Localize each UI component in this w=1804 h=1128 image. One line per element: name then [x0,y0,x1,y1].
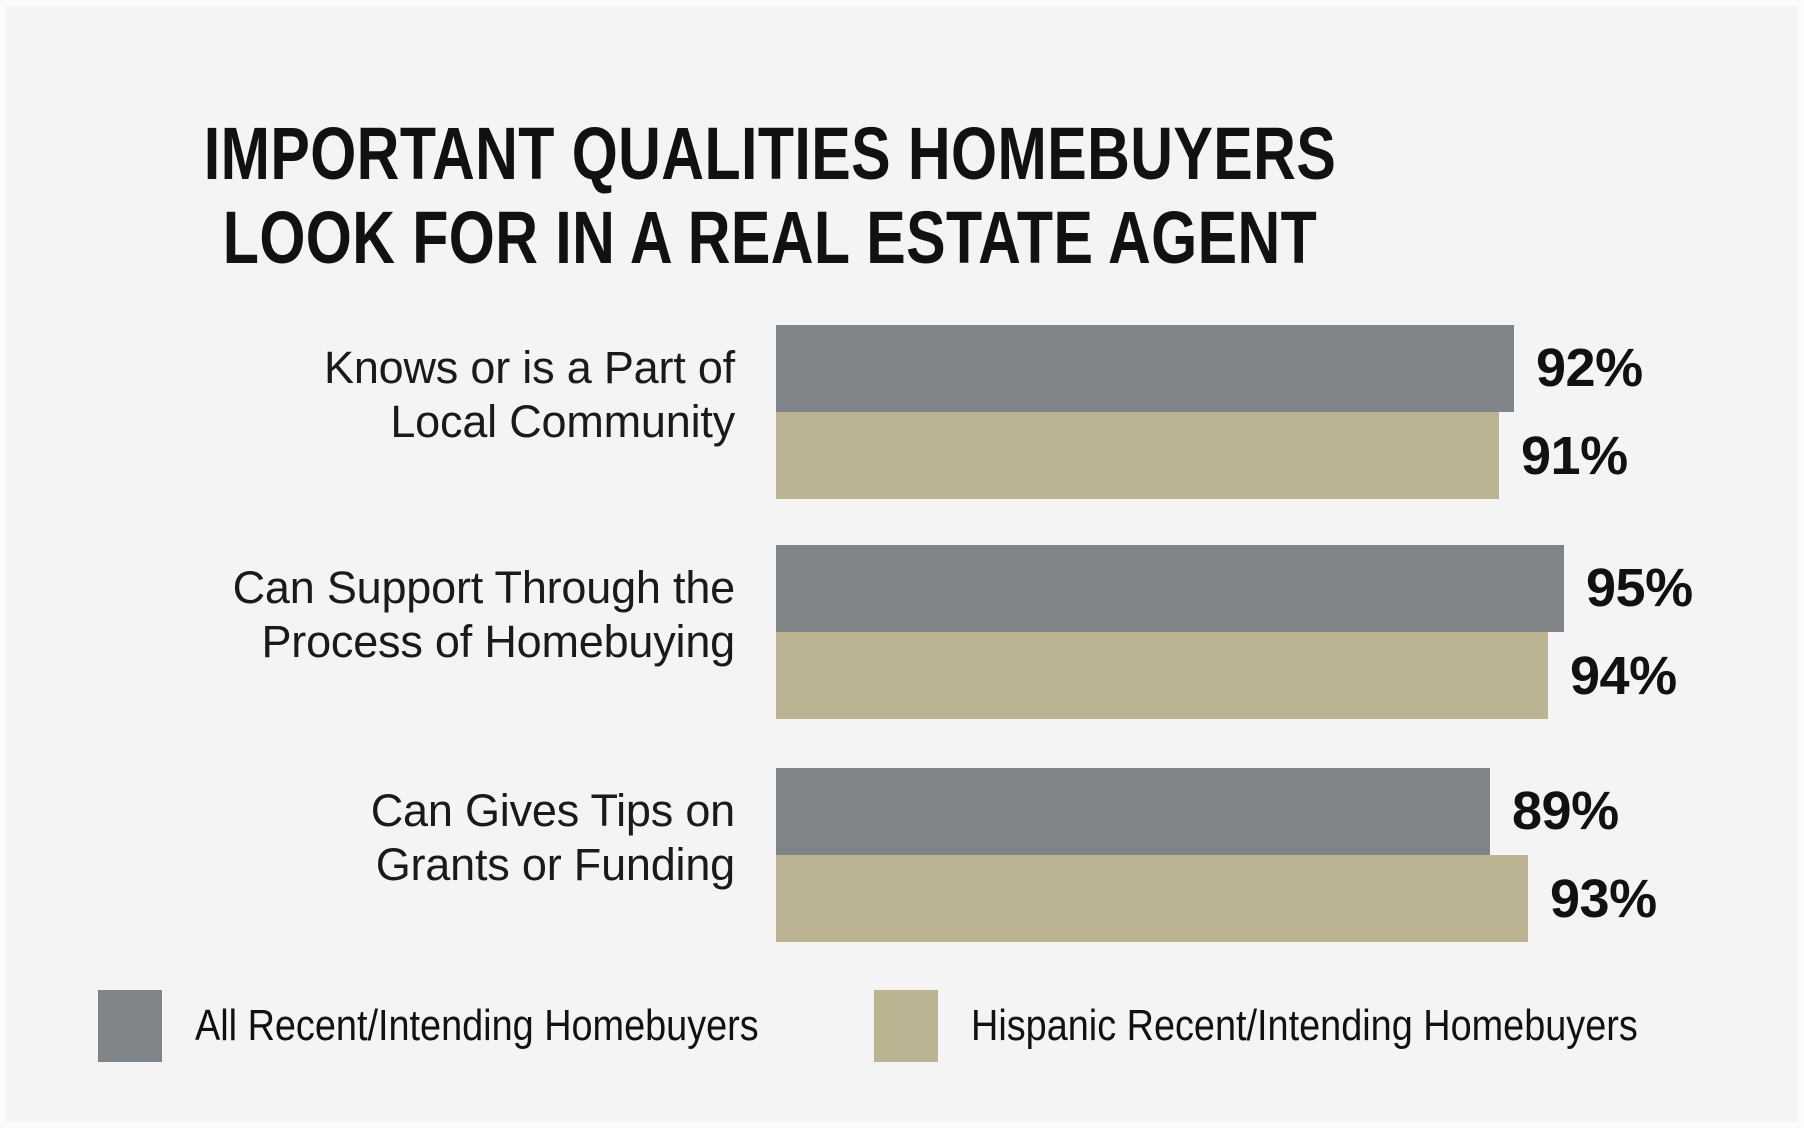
bar-hispanic-1 [776,412,1499,499]
bar-group-tips-grants-funding: Can Gives Tips on Grants or Funding 89% … [0,768,1804,942]
bar-hispanic-2 [776,632,1548,719]
bar-group-knows-local-community: Knows or is a Part of Local Community 92… [0,325,1804,499]
bar-all-2 [776,545,1564,632]
legend-label-hispanic: Hispanic Recent/Intending Homebuyers [971,1001,1638,1051]
category-label-1: Knows or is a Part of Local Community [115,341,735,449]
bar-row-all-3 [776,768,1490,855]
bar-value-all-1: 92% [1536,341,1643,395]
bar-value-hispanic-2: 94% [1570,649,1677,703]
bar-value-hispanic-3: 93% [1550,872,1657,926]
bar-all-3 [776,768,1490,855]
bar-group-can-support-process: Can Support Through the Process of Homeb… [0,545,1804,719]
category-label-2: Can Support Through the Process of Homeb… [115,561,735,669]
bar-all-1 [776,325,1514,412]
legend-item-all-recent-intending[interactable]: All Recent/Intending Homebuyers [98,990,850,1062]
bar-value-all-2: 95% [1586,561,1693,615]
legend-swatch-icon-all [98,990,162,1062]
bar-value-hispanic-1: 91% [1521,429,1628,483]
bar-row-all-1 [776,325,1514,412]
bar-hispanic-3 [776,855,1528,942]
bar-row-hispanic-2 [776,632,1548,719]
bar-row-hispanic-1 [776,412,1499,499]
bar-row-hispanic-3 [776,855,1528,942]
chart-legend: All Recent/Intending Homebuyers Hispanic… [0,990,1804,1100]
infographic-canvas: IMPORTANT QUALITIES HOMEBUYERS LOOK FOR … [0,0,1804,1128]
legend-item-hispanic-recent-intending[interactable]: Hispanic Recent/Intending Homebuyers [874,990,1746,1062]
legend-swatch-icon-hispanic [874,990,938,1062]
bar-value-all-3: 89% [1512,784,1619,838]
bar-row-all-2 [776,545,1564,632]
legend-label-all: All Recent/Intending Homebuyers [195,1001,759,1051]
category-label-3: Can Gives Tips on Grants or Funding [115,784,735,892]
chart-plot-area: Knows or is a Part of Local Community 92… [0,0,1804,1128]
